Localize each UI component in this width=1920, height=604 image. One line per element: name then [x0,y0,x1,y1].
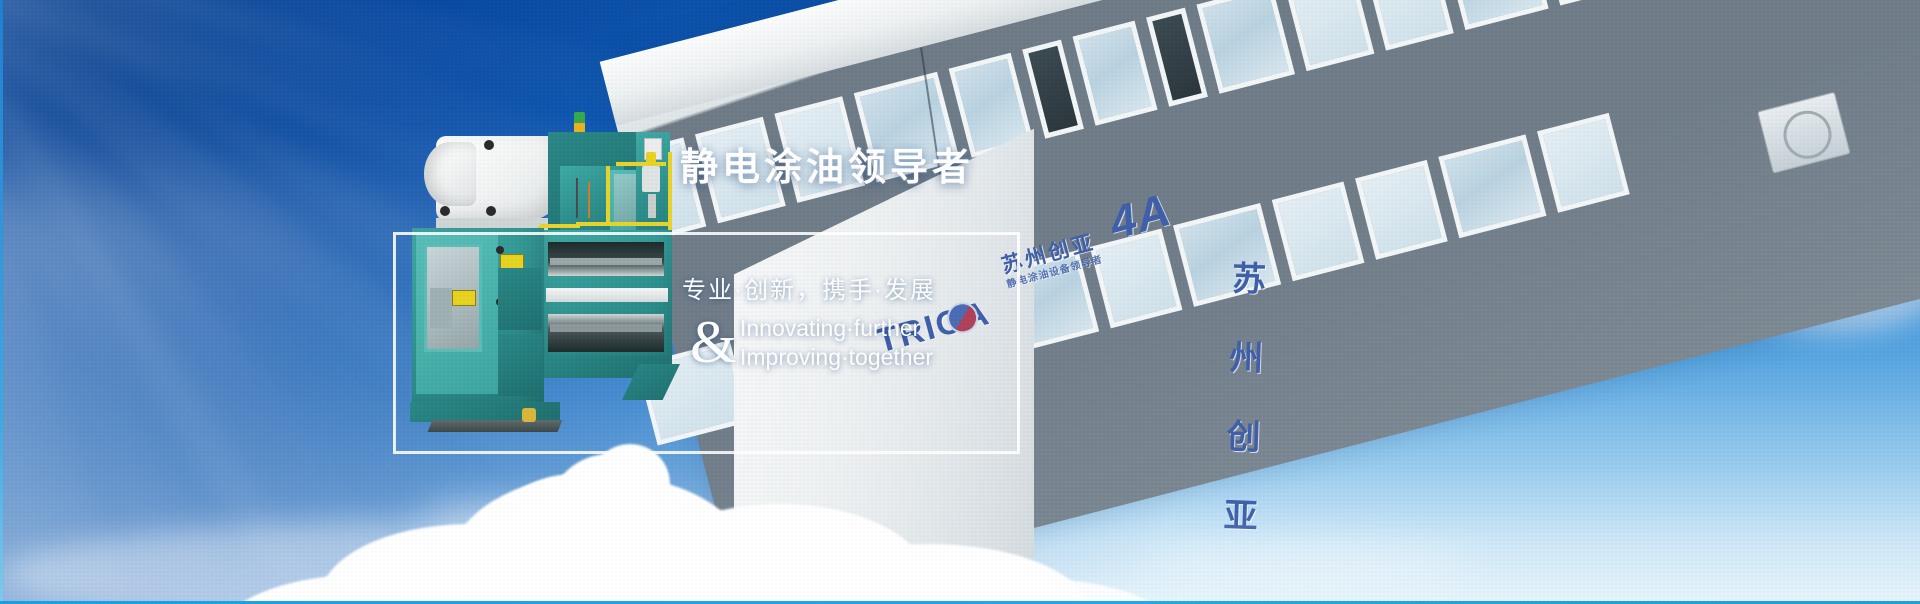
blower-intake [424,142,476,206]
ampersand-glyph: & [690,312,737,372]
tagline-english: Innovating·further Improving·together [740,314,933,372]
cloud-wisp-bottom-right [1150,540,1470,588]
vertical-char-2: 创 [1226,409,1288,460]
vertical-char-3: 亚 [1223,488,1285,539]
hero-banner: TRIOA 苏州创亚 静电涂油设备领导者 4A 苏 州 创 亚 [0,0,1920,604]
company-name-cn-vertical: 苏 州 创 亚 [1223,251,1293,539]
rating-badge-4a: 4A [1104,182,1177,250]
pneumatic-pipe-mid [606,166,610,224]
tagline-line-1: Innovating·further [740,314,933,343]
pneumatic-pipe-top [576,222,672,226]
page-title: 静电涂油领导者 [680,136,974,191]
vertical-char-1: 州 [1229,330,1291,381]
left-edge-accent [0,0,3,604]
tagline-line-2: Improving·together [740,343,933,372]
subtitle-chinese: 专业·创新，携手·发展 [682,270,936,305]
vertical-char-0: 苏 [1231,251,1293,302]
